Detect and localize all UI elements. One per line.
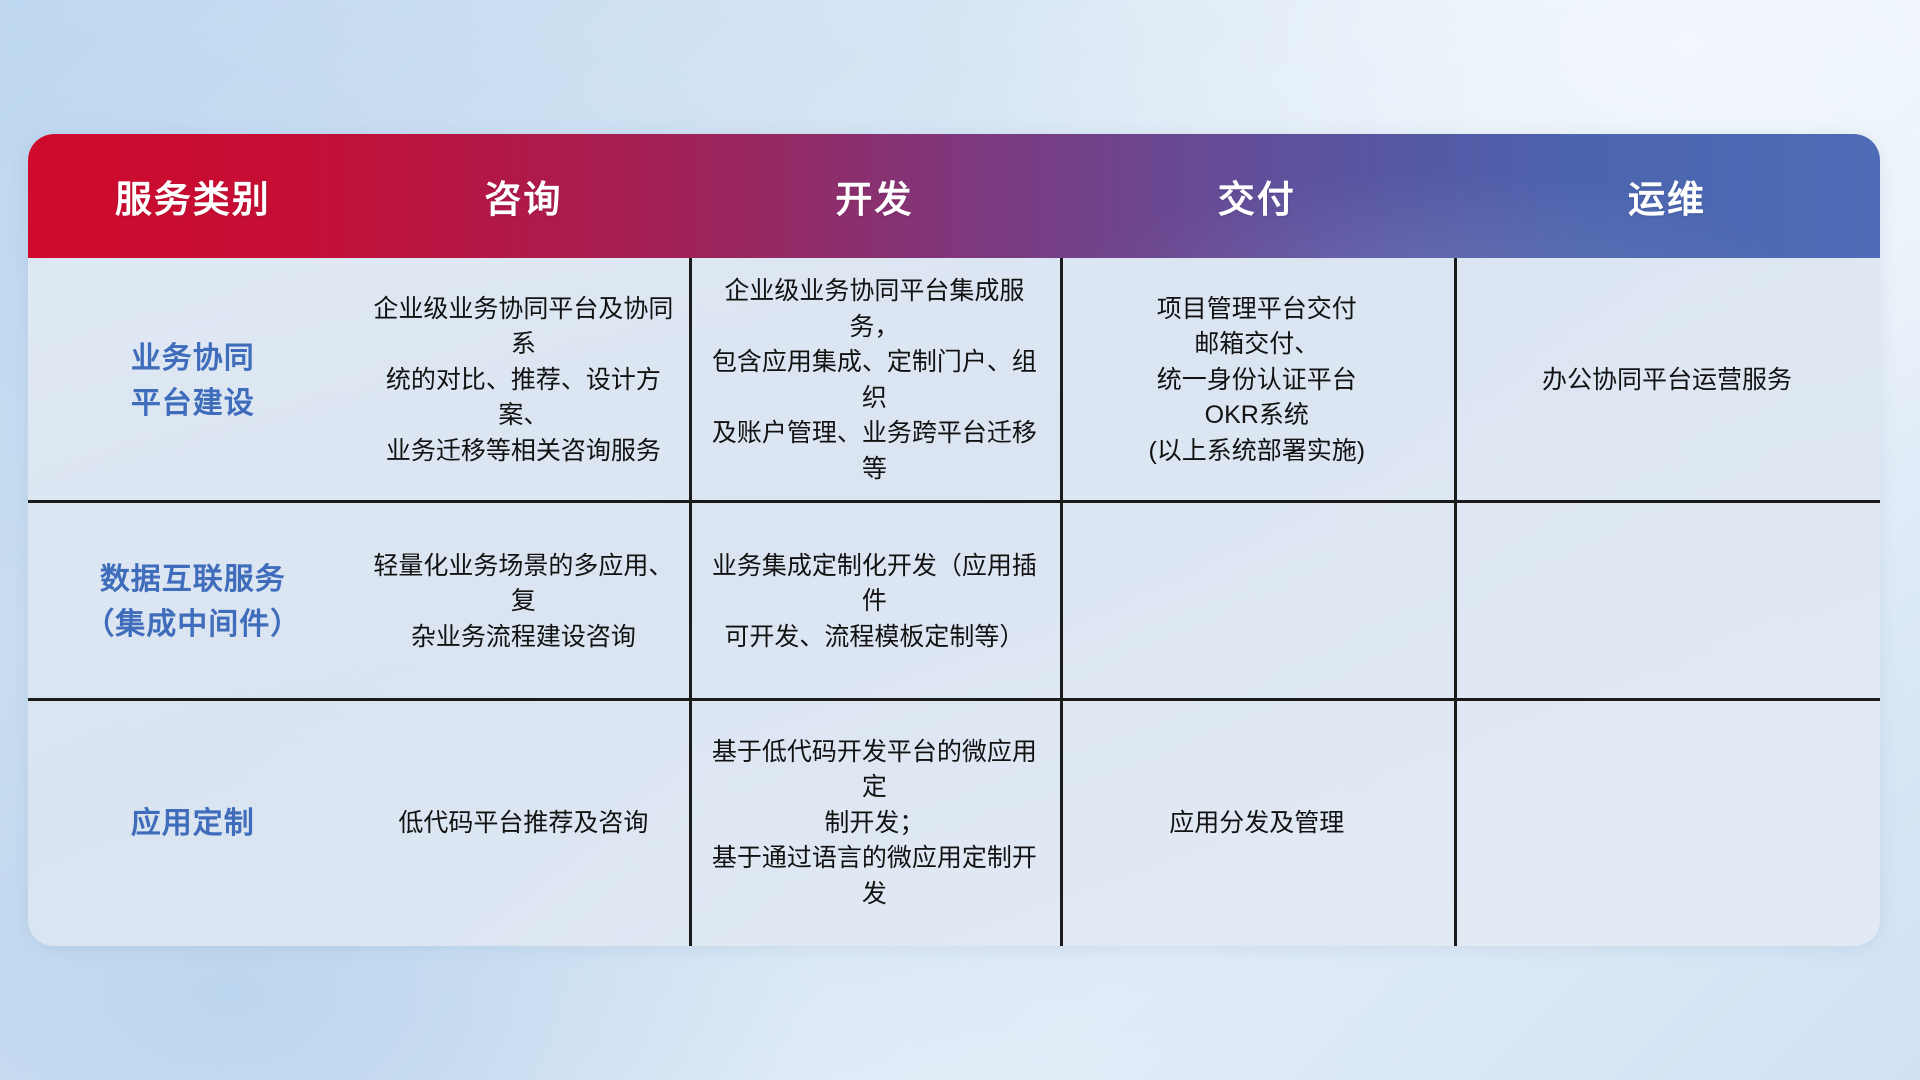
table-row: 数据互联服务 （集成中间件） 轻量化业务场景的多应用、复 杂业务流程建设咨询 业… <box>28 503 1880 701</box>
cell-delivery: 应用分发及管理 <box>1060 701 1454 946</box>
cell-consulting: 企业级业务协同平台及协同系 统的对比、推荐、设计方案、 业务迁移等相关咨询服务 <box>358 258 690 503</box>
cell-delivery: 项目管理平台交付 邮箱交付、 统一身份认证平台 OKR系统 (以上系统部署实施) <box>1060 258 1454 503</box>
service-matrix-card: 服务类别 咨询 开发 交付 运维 业务协同 平台建设 企业级业务协同平台及协同系… <box>28 134 1880 946</box>
cell-consulting: 低代码平台推荐及咨询 <box>358 701 690 946</box>
cell-development: 业务集成定制化开发（应用插件 可开发、流程模板定制等） <box>689 503 1059 701</box>
table-body: 业务协同 平台建设 企业级业务协同平台及协同系 统的对比、推荐、设计方案、 业务… <box>28 258 1880 946</box>
cell-operations: 办公协同平台运营服务 <box>1454 258 1880 503</box>
row-category-cell: 数据互联服务 （集成中间件） <box>28 503 358 701</box>
table-header-row: 服务类别 咨询 开发 交付 运维 <box>28 134 1880 258</box>
cell-text: 企业级业务协同平台及协同系 统的对比、推荐、设计方案、 业务迁移等相关咨询服务 <box>372 292 676 470</box>
row-category-label: 数据互联服务 （集成中间件） <box>84 557 301 647</box>
column-header-delivery: 交付 <box>1060 169 1454 223</box>
column-header-development: 开发 <box>689 169 1059 223</box>
cell-delivery <box>1060 503 1454 701</box>
table-row: 业务协同 平台建设 企业级业务协同平台及协同系 统的对比、推荐、设计方案、 业务… <box>28 258 1880 503</box>
row-category-cell: 业务协同 平台建设 <box>28 258 358 503</box>
cell-development: 基于低代码开发平台的微应用定 制开发； 基于通过语言的微应用定制开发 <box>689 701 1059 946</box>
column-header-consulting: 咨询 <box>358 169 690 223</box>
cell-text: 基于低代码开发平台的微应用定 制开发； 基于通过语言的微应用定制开发 <box>703 735 1045 913</box>
row-category-label: 应用定制 <box>131 801 255 846</box>
column-header-operations: 运维 <box>1454 169 1880 223</box>
cell-development: 企业级业务协同平台集成服务， 包含应用集成、定制门户、组织 及账户管理、业务跨平… <box>689 258 1059 503</box>
cell-consulting: 轻量化业务场景的多应用、复 杂业务流程建设咨询 <box>358 503 690 701</box>
cell-operations <box>1454 701 1880 946</box>
cell-text: 轻量化业务场景的多应用、复 杂业务流程建设咨询 <box>372 549 676 656</box>
row-category-cell: 应用定制 <box>28 701 358 946</box>
cell-text: 业务集成定制化开发（应用插件 可开发、流程模板定制等） <box>703 549 1045 656</box>
cell-text: 应用分发及管理 <box>1169 806 1344 842</box>
cell-text: 企业级业务协同平台集成服务， 包含应用集成、定制门户、组织 及账户管理、业务跨平… <box>703 274 1045 487</box>
cell-text: 低代码平台推荐及咨询 <box>398 806 648 842</box>
column-header-category: 服务类别 <box>28 169 358 223</box>
cell-text: 办公协同平台运营服务 <box>1542 363 1792 399</box>
cell-text: 项目管理平台交付 邮箱交付、 统一身份认证平台 OKR系统 (以上系统部署实施) <box>1148 292 1365 470</box>
row-category-label: 业务协同 平台建设 <box>131 336 255 426</box>
table-row: 应用定制 低代码平台推荐及咨询 基于低代码开发平台的微应用定 制开发； 基于通过… <box>28 701 1880 946</box>
cell-operations <box>1454 503 1880 701</box>
